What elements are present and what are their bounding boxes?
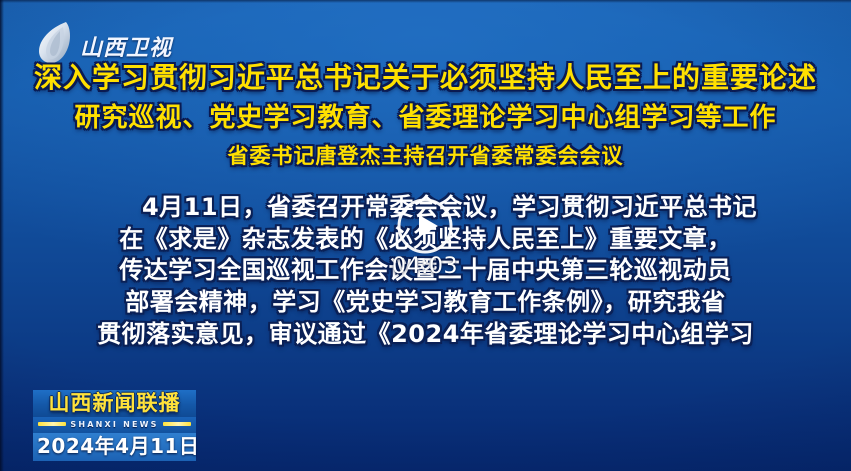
body-line: 部署会精神，学习《党史学习教育工作条例》，研究我省: [42, 287, 809, 319]
top-edge-shadow: [0, 0, 851, 3]
headline-line-1: 深入学习贯彻习近平总书记关于必须坚持人民至上的重要论述: [0, 62, 851, 94]
video-timestamp: 04:03: [392, 254, 458, 279]
headline-block: 深入学习贯彻习近平总书记关于必须坚持人民至上的重要论述 研究巡视、党史学习教育、…: [0, 62, 851, 168]
rule-left: [38, 422, 66, 426]
program-bug: 山西新闻联播 SHANXI NEWS 2024年4月11日: [33, 390, 196, 461]
program-bug-title-row: 山西新闻联播: [33, 390, 196, 417]
broadcast-date: 2024年4月11日: [37, 435, 192, 458]
shanxi-tv-leaf-logo-icon: [36, 20, 76, 64]
program-bug-date-row: 2024年4月11日: [33, 433, 196, 461]
channel-logo: 山西卫视: [36, 18, 172, 64]
headline-line-2: 研究巡视、党史学习教育、省委理论学习中心组学习等工作: [0, 103, 851, 133]
play-button[interactable]: [396, 197, 454, 255]
program-subtitle: SHANXI NEWS: [70, 420, 158, 429]
rule-right: [163, 422, 191, 426]
program-title: 山西新闻联播: [39, 392, 190, 416]
body-line: 贯彻落实意见，审议通过《2024年省委理论学习中心组学习: [42, 319, 809, 351]
video-player[interactable]: 山西卫视 深入学习贯彻习近平总书记关于必须坚持人民至上的重要论述 研究巡视、党史…: [0, 0, 851, 471]
program-bug-subtitle-row: SHANXI NEWS: [33, 417, 196, 433]
play-button-icon[interactable]: [396, 197, 454, 255]
headline-line-3: 省委书记唐登杰主持召开省委常委会会议: [0, 144, 851, 168]
